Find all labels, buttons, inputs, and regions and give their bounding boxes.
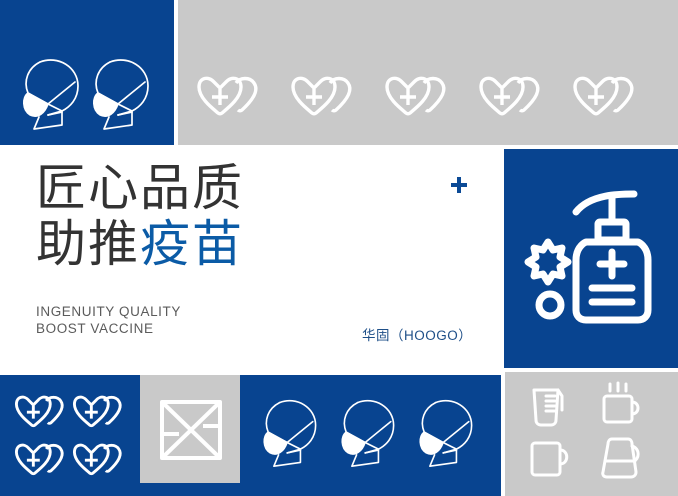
subtitle-line-1: INGENUITY QUALITY [36, 303, 181, 320]
double-heart-plus-icon [572, 74, 644, 122]
broken-image-x-box-icon [159, 399, 223, 461]
double-heart-plus-icon [478, 74, 550, 122]
sanitizer-pump-bottle-icon [524, 190, 664, 330]
measuring-beaker-icon [528, 386, 568, 428]
masked-face-icon [414, 396, 478, 470]
subtitle-line-2: BOOST VACCINE [36, 320, 181, 337]
headline-line-1: 匠心品质 [36, 160, 476, 216]
headline-line-2: 助推疫苗 [36, 216, 476, 272]
double-heart-plus-icon [196, 74, 268, 122]
plus-cross-icon [450, 176, 468, 194]
brand-name: 华固（HOOGO） [362, 324, 472, 344]
subtitle: INGENUITY QUALITY BOOST VACCINE [36, 303, 181, 337]
mug-icon [528, 437, 574, 481]
masked-face-icon [18, 55, 84, 133]
double-heart-plus-icon [14, 393, 72, 433]
double-heart-plus-icon [14, 441, 72, 481]
double-heart-plus-icon [384, 74, 456, 122]
page-title: 匠心品质 助推疫苗 [36, 160, 476, 272]
top-gray-band [178, 0, 678, 145]
steaming-mug-icon [598, 380, 646, 428]
masked-face-icon [336, 396, 400, 470]
carafe-icon [598, 434, 648, 482]
headline-line-2-accent: 疫苗 [140, 215, 244, 273]
masked-face-icon [88, 55, 154, 133]
headline-line-2-plain: 助推 [36, 215, 140, 273]
double-heart-plus-icon [72, 441, 130, 481]
double-heart-plus-icon [72, 393, 130, 433]
poster-canvas: 匠心品质 助推疫苗 INGENUITY QUALITY BOOST VACCIN… [0, 0, 678, 496]
double-heart-plus-icon [290, 74, 362, 122]
masked-face-icon [258, 396, 322, 470]
